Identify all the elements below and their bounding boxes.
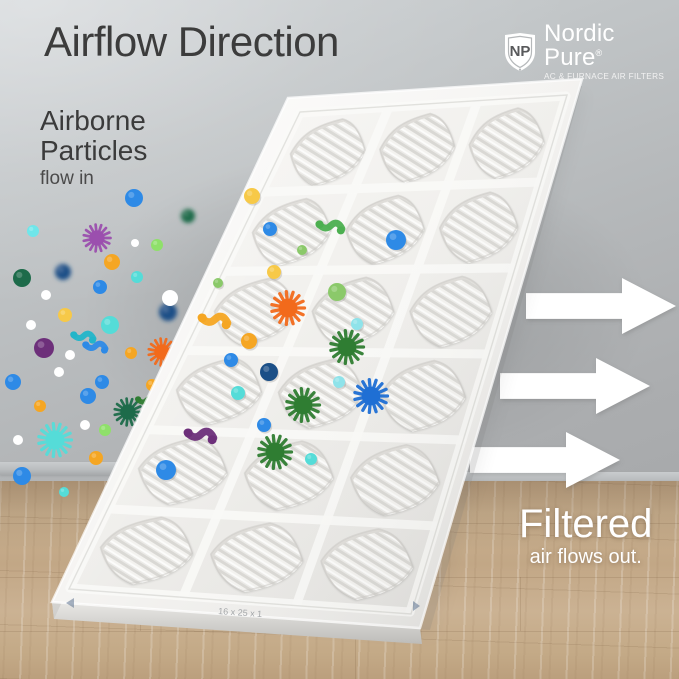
particle: [272, 292, 305, 325]
logo-wordmark: Nordic Pure®: [544, 22, 679, 70]
product-infographic: 16 x 25 x 1 Airflow Direction Airborne P…: [0, 0, 679, 679]
brand-logo: NP Nordic Pure® AC & FURNACE AIR FILTERS: [503, 22, 679, 81]
filtered-line-2: air flows out.: [519, 546, 652, 569]
particle: [259, 436, 292, 469]
filtered-callout: Filtered air flows out.: [519, 503, 652, 569]
logo-monogram: NP: [510, 43, 531, 60]
logo-name-text: Nordic Pure: [544, 20, 615, 71]
airborne-line-3: flow in: [40, 168, 147, 190]
particle: [355, 380, 388, 413]
particle: [351, 318, 364, 332]
filtered-line-1: Filtered: [519, 503, 652, 545]
logo-tagline: AC & FURNACE AIR FILTERS: [544, 73, 679, 81]
particle: [231, 386, 246, 402]
particle: [267, 265, 282, 281]
particle: [198, 313, 231, 329]
shield-icon: NP: [503, 32, 537, 72]
particle: [331, 331, 364, 364]
particle: [213, 278, 224, 290]
particle: [316, 220, 345, 234]
captured-particles-on-filter: [0, 0, 679, 679]
airborne-callout: Airborne Particles flow in: [40, 106, 147, 190]
airborne-line-2: Particles: [40, 136, 147, 166]
particle: [328, 283, 347, 303]
particle: [287, 389, 320, 422]
particle: [224, 353, 239, 369]
particle: [257, 418, 272, 434]
particle: [156, 460, 177, 482]
logo-registered-mark: ®: [596, 48, 603, 58]
particle: [333, 376, 346, 390]
particle: [244, 188, 261, 206]
particle: [297, 245, 308, 257]
particle: [386, 230, 407, 252]
particle: [184, 428, 217, 444]
page-title: Airflow Direction: [44, 18, 339, 66]
airborne-line-1: Airborne: [40, 106, 147, 136]
particle: [263, 222, 278, 238]
particle: [241, 333, 258, 351]
particle: [305, 453, 318, 467]
particle: [260, 363, 279, 383]
